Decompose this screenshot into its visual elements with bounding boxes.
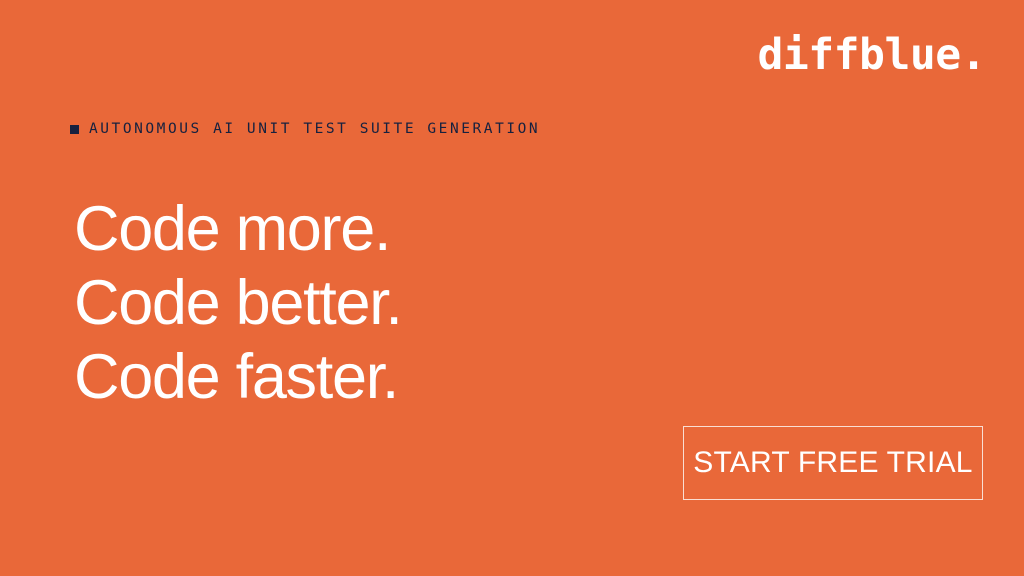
start-free-trial-label: START FREE TRIAL: [693, 448, 972, 478]
headline-line-2: Code better.: [74, 266, 402, 340]
headline-line-1: Code more.: [74, 192, 402, 266]
eyebrow-label: AUTONOMOUS AI UNIT TEST SUITE GENERATION: [89, 122, 540, 137]
eyebrow: AUTONOMOUS AI UNIT TEST SUITE GENERATION: [70, 122, 540, 137]
diffblue-logo[interactable]: diffblue.: [758, 34, 987, 77]
square-bullet-icon: [70, 125, 79, 134]
hero-banner: diffblue. AUTONOMOUS AI UNIT TEST SUITE …: [0, 0, 1024, 576]
headline-line-3: Code faster.: [74, 340, 402, 414]
headline: Code more. Code better. Code faster.: [74, 192, 402, 414]
start-free-trial-button[interactable]: START FREE TRIAL: [683, 426, 983, 500]
